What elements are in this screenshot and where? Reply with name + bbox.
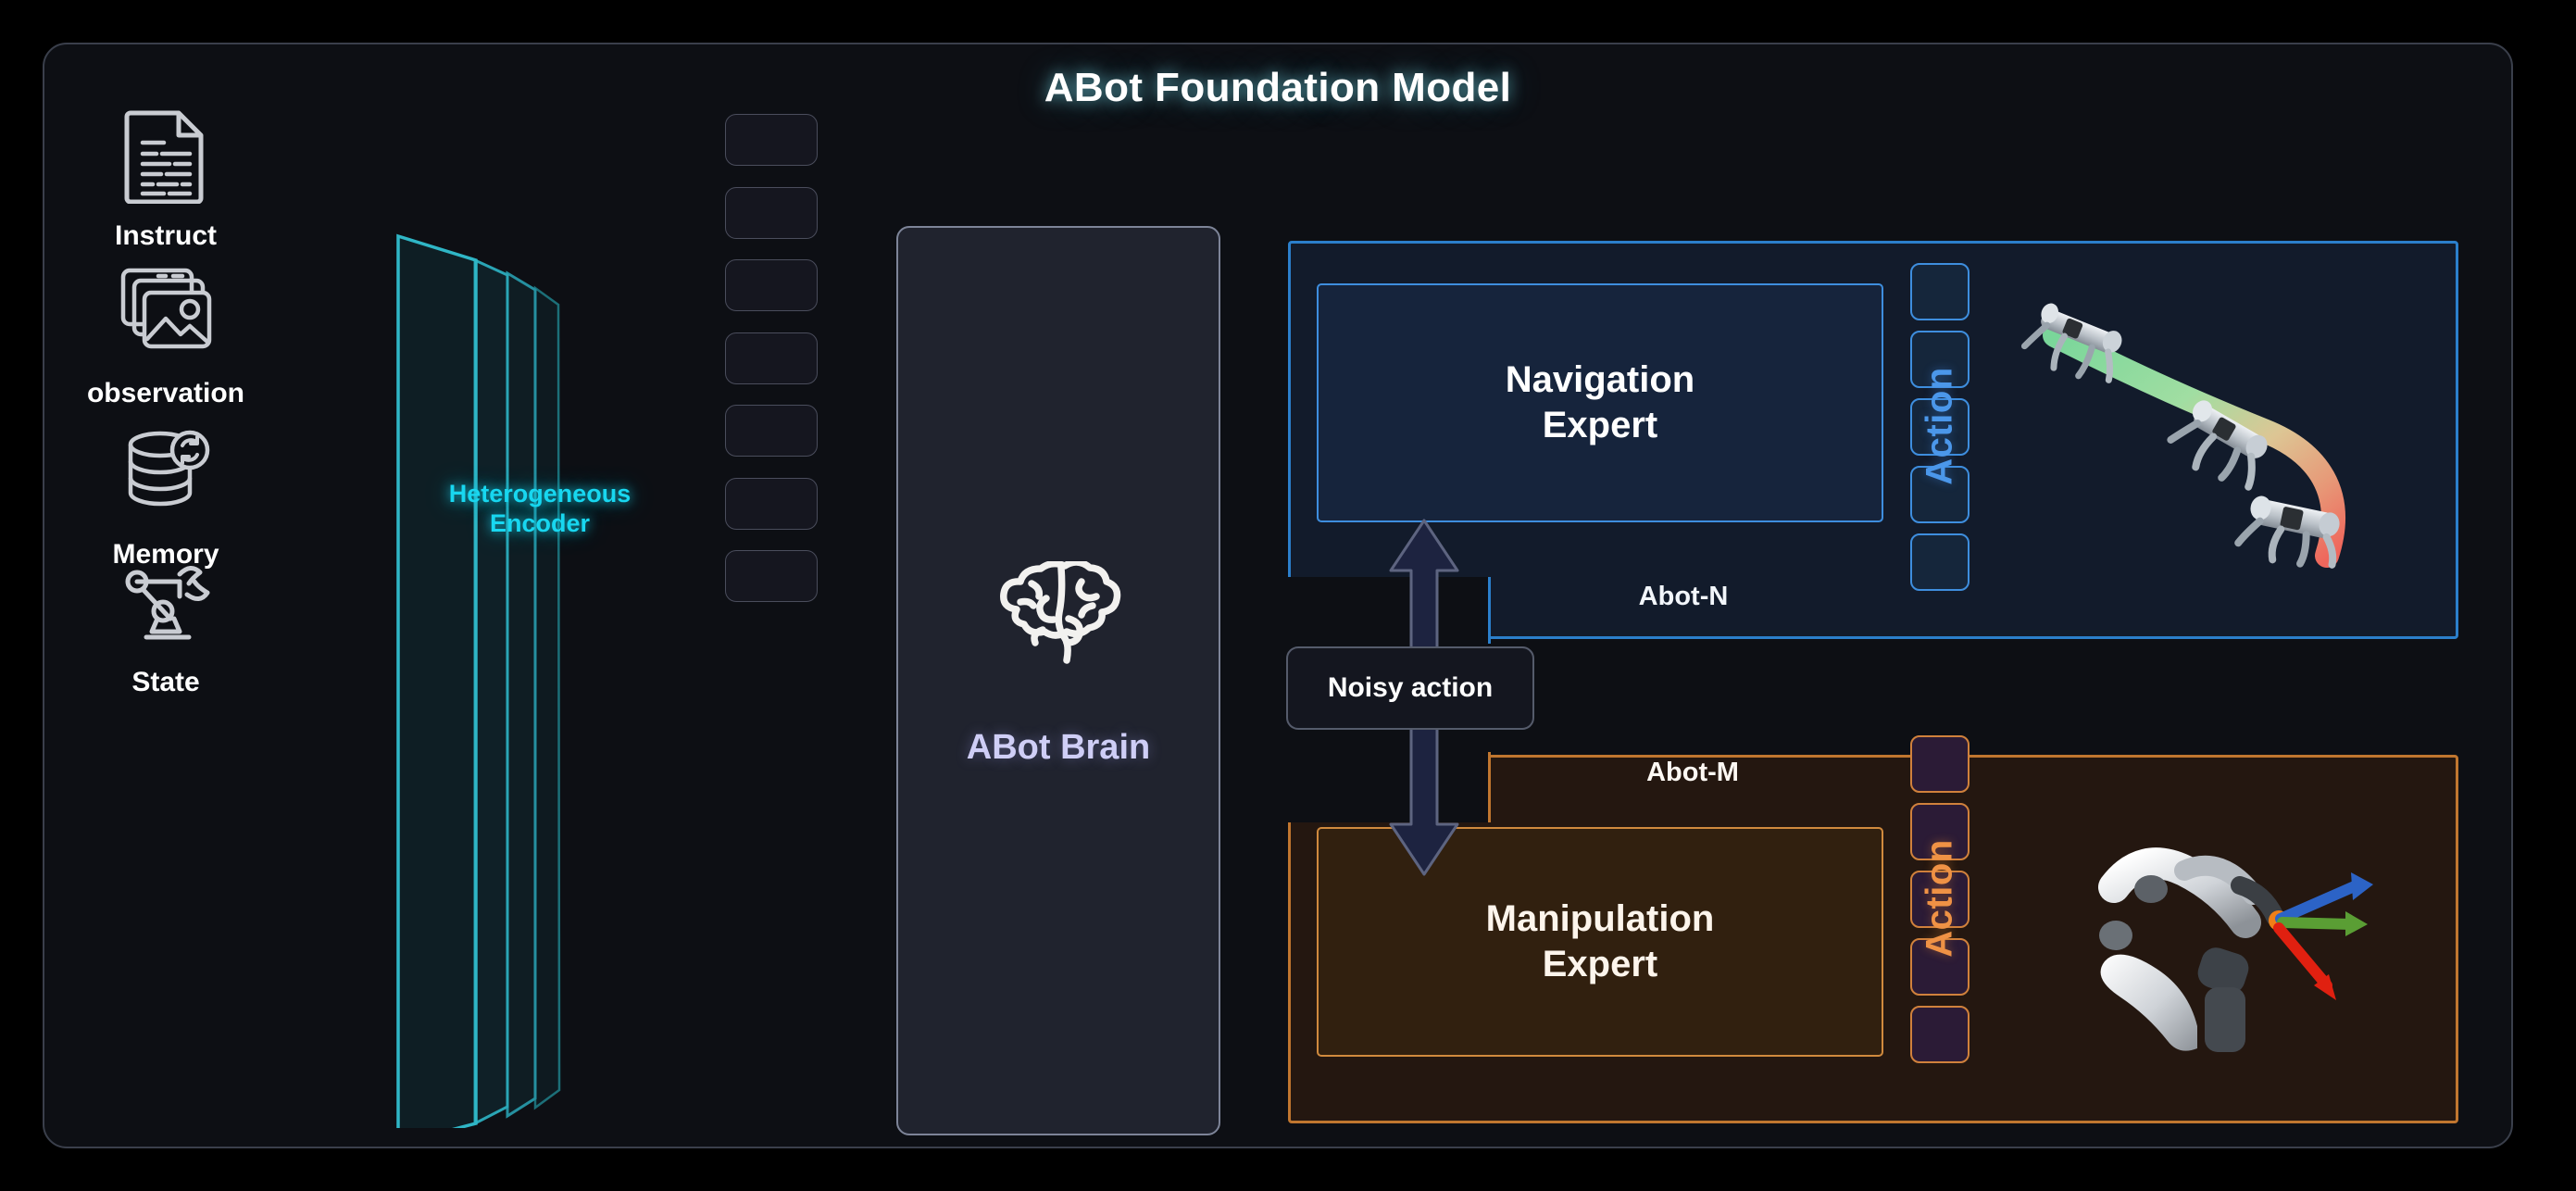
quadruped-trajectory-image (2021, 259, 2410, 579)
manipulation-action-column: Action (1910, 735, 1970, 1061)
manipulator-arm-axes-image (2058, 832, 2429, 1114)
noisy-action-label: Noisy action (1328, 672, 1493, 704)
navigation-expert-line1: Navigation (1506, 357, 1694, 403)
token-box (725, 114, 818, 166)
noisy-action-box: Noisy action (1286, 646, 1534, 730)
abot-brain-panel: ABot Brain (896, 226, 1220, 1135)
action-box (1910, 263, 1970, 320)
input-label: State (59, 667, 272, 698)
input-label: Instruct (59, 220, 272, 252)
abot-m-label: Abot-M (1544, 758, 1841, 788)
page-title: ABot Foundation Model (44, 65, 2511, 111)
robot-arm-icon (59, 554, 272, 654)
action-box (1910, 938, 1970, 996)
database-refresh-icon (59, 426, 272, 526)
token-box (725, 332, 818, 384)
abot-n-label: Abot-N (1544, 582, 1822, 612)
action-box (1910, 803, 1970, 860)
token-box (725, 478, 818, 530)
navigation-expert-box: Navigation Expert (1317, 283, 1883, 522)
abot-brain-label: ABot Brain (898, 728, 1219, 768)
heterogeneous-encoder: Heterogeneous Encoder (387, 216, 693, 1128)
action-box (1910, 533, 1970, 591)
token-box (725, 259, 818, 311)
action-box (1910, 735, 1970, 793)
input-item-memory: Memory (59, 426, 272, 570)
token-box (725, 187, 818, 239)
manipulation-expert-line1: Manipulation (1486, 896, 1715, 942)
action-box (1910, 331, 1970, 388)
brain-icon (898, 561, 1219, 673)
diagram-card: ABot Foundation Model Instruc (43, 43, 2513, 1148)
input-item-observation: observation (59, 265, 272, 409)
document-icon (59, 107, 272, 207)
diagram-canvas: ABot Foundation Model Instruc (0, 0, 2576, 1191)
action-box (1910, 398, 1970, 456)
navigation-expert-line2: Expert (1506, 403, 1694, 448)
input-label: observation (59, 378, 272, 409)
token-box (725, 550, 818, 602)
navigation-action-column: Action (1910, 263, 1970, 589)
action-box (1910, 871, 1970, 928)
action-box (1910, 1006, 1970, 1063)
manipulation-expert-line2: Expert (1486, 942, 1715, 987)
token-box (725, 405, 818, 457)
action-box (1910, 466, 1970, 523)
input-item-instruct: Instruct (59, 107, 272, 252)
encoder-layers (387, 216, 693, 1128)
input-item-state: State (59, 554, 272, 698)
images-stack-icon (59, 265, 272, 365)
